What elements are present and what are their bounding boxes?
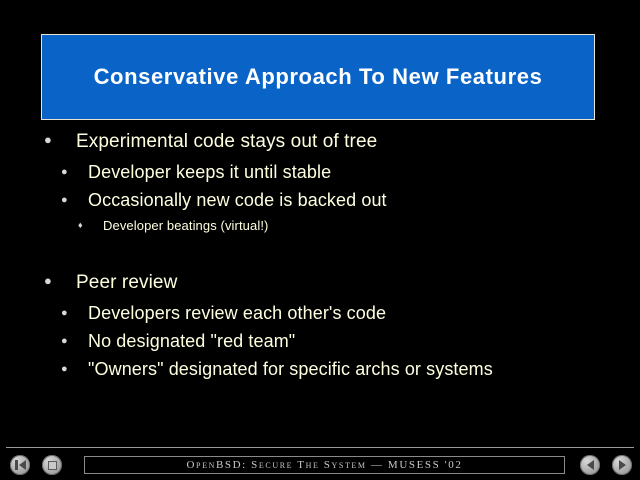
bullet-text: Experimental code stays out of tree bbox=[76, 131, 377, 153]
next-slide-button[interactable] bbox=[612, 455, 632, 475]
bullet-item-level2: ● Developers review each other's code bbox=[0, 303, 640, 331]
bullet-text: "Owners" designated for specific archs o… bbox=[88, 359, 493, 380]
bullet-marker-icon: ● bbox=[44, 274, 76, 287]
slide-title: Conservative Approach To New Features bbox=[94, 64, 543, 90]
bullet-group-spacer bbox=[0, 245, 640, 272]
bullet-marker-icon: ● bbox=[44, 133, 76, 146]
bullet-marker-diamond-icon: ♦ bbox=[78, 221, 103, 230]
bullet-marker-icon: ● bbox=[61, 364, 88, 375]
stop-square-icon bbox=[42, 455, 62, 475]
bullet-marker-icon: ● bbox=[61, 308, 88, 319]
index-button[interactable] bbox=[42, 455, 62, 475]
slide-title-banner: Conservative Approach To New Features bbox=[41, 34, 595, 120]
bullet-item-level2: ● "Owners" designated for specific archs… bbox=[0, 359, 640, 387]
footer-title-box: OpenBSD: Secure The System — MUSESS '02 bbox=[84, 456, 565, 474]
bullet-text: Developers review each other's code bbox=[88, 303, 386, 324]
bullet-item-level1: ● Experimental code stays out of tree bbox=[0, 131, 640, 162]
bullet-marker-icon: ● bbox=[61, 336, 88, 347]
presentation-slide: Conservative Approach To New Features ● … bbox=[0, 0, 640, 480]
triangle-left-icon bbox=[580, 455, 600, 475]
bullet-text: No designated "red team" bbox=[88, 331, 295, 352]
footer-divider bbox=[6, 447, 634, 448]
bullet-text: Occasionally new code is backed out bbox=[88, 190, 387, 211]
bullet-text: Developer keeps it until stable bbox=[88, 162, 331, 183]
bullet-item-level1: ● Peer review bbox=[0, 272, 640, 303]
bullet-marker-icon: ● bbox=[61, 167, 88, 178]
slide-body: ● Experimental code stays out of tree ● … bbox=[0, 131, 640, 387]
footer-title: OpenBSD: Secure The System — MUSESS '02 bbox=[187, 459, 463, 471]
triangle-right-icon bbox=[612, 455, 632, 475]
first-slide-button[interactable] bbox=[10, 455, 30, 475]
bullet-item-level2: ● No designated "red team" bbox=[0, 331, 640, 359]
bullet-marker-icon: ● bbox=[61, 195, 88, 206]
bullet-text: Developer beatings (virtual!) bbox=[103, 218, 268, 233]
previous-slide-button[interactable] bbox=[580, 455, 600, 475]
bullet-item-level2: ● Developer keeps it until stable bbox=[0, 162, 640, 190]
bullet-item-level2: ● Occasionally new code is backed out bbox=[0, 190, 640, 218]
skip-back-icon bbox=[10, 455, 30, 475]
bullet-text: Peer review bbox=[76, 272, 177, 294]
bullet-item-level3: ♦ Developer beatings (virtual!) bbox=[0, 218, 640, 245]
